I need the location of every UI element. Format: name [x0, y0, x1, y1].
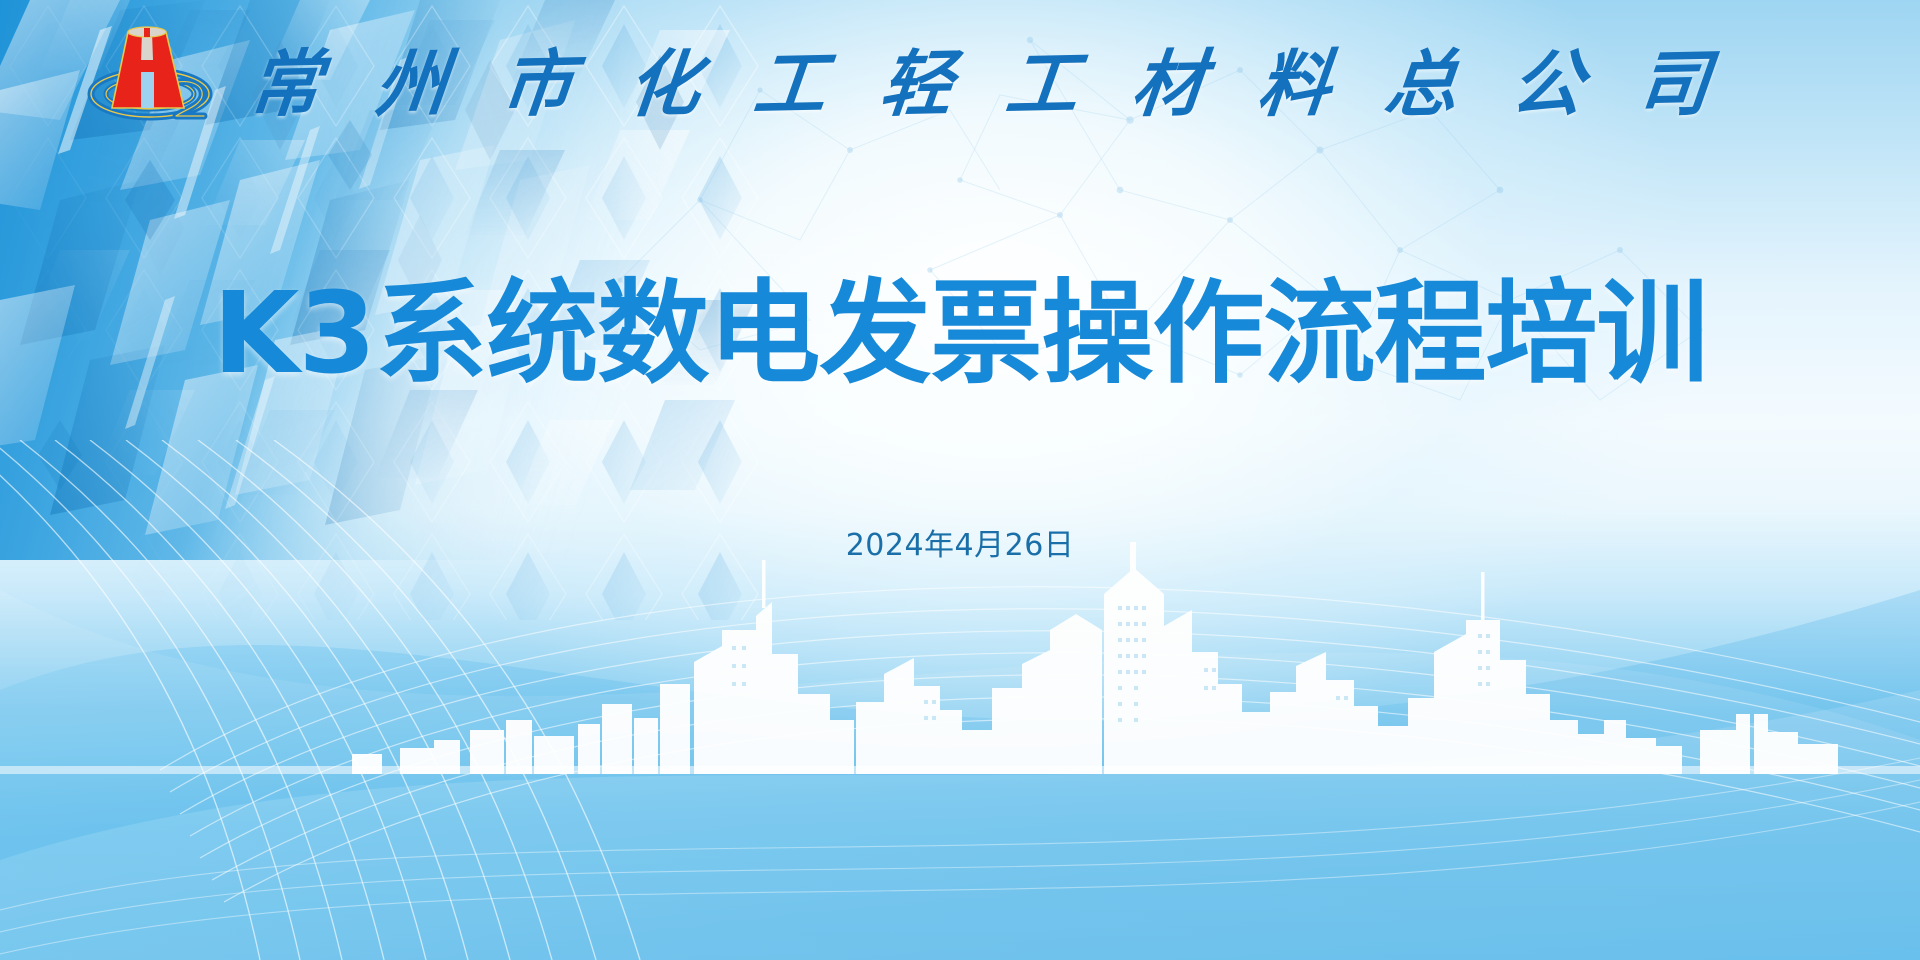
company-name-char-0: 常	[245, 24, 328, 130]
city-skyline	[0, 534, 1920, 774]
company-name-char-6: 工	[1002, 24, 1085, 130]
company-name-char-11: 司	[1632, 24, 1715, 130]
company-logo	[84, 22, 216, 130]
slide-date: 2024年4月26日	[0, 520, 1920, 564]
network-mesh-pattern	[0, 0, 1920, 960]
company-name-char-5: 轻	[875, 24, 958, 130]
company-name-char-7: 材	[1128, 24, 1211, 130]
presentation-cover-slide: 常 州 市 化 工 轻 工 材 料 总 公 司 K3系统数电发票操作流程培训 2…	[0, 0, 1920, 960]
company-name-char-1: 州	[371, 24, 454, 130]
wave-lines-svg	[0, 440, 1920, 960]
company-name-char-9: 总	[1380, 24, 1463, 130]
background-gradient	[0, 0, 1920, 960]
company-logo-svg	[84, 22, 216, 130]
slide-title: K3系统数电发票操作流程培训	[0, 276, 1920, 394]
company-name-char-3: 化	[623, 24, 706, 130]
city-skyline-svg	[0, 534, 1920, 774]
company-name-char-4: 工	[749, 24, 832, 130]
company-name-char-2: 市	[497, 24, 580, 130]
company-name-char-8: 料	[1254, 24, 1337, 130]
wave-lines-decoration	[0, 440, 1920, 960]
company-name: 常 州 市 化 工 轻 工 材 料 总 公 司	[250, 26, 1710, 128]
company-name-char-10: 公	[1506, 24, 1589, 130]
